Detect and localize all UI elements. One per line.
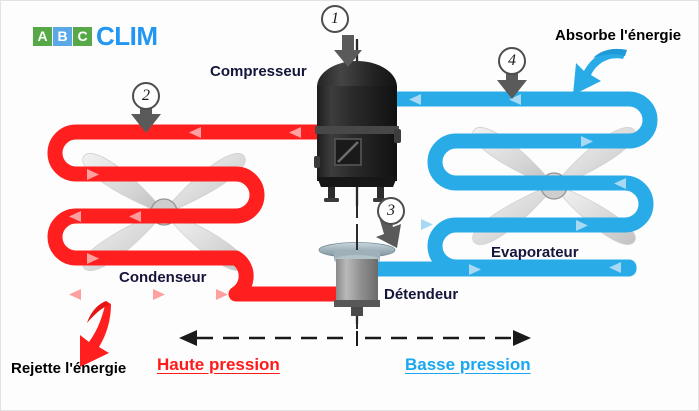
callout-badge-1[interactable]: 1 — [321, 5, 349, 33]
label-compresseur: Compresseur — [210, 64, 307, 79]
reject-energy-arrow-icon — [80, 301, 111, 367]
pressure-axis — [179, 330, 531, 346]
label-condenseur: Condenseur — [119, 270, 207, 285]
label-rejette-energie: Rejette l'énergie — [11, 361, 126, 376]
compressor-icon — [314, 39, 401, 206]
label-evaporateur: Evaporateur — [491, 245, 579, 260]
label-haute-pression: Haute pression — [157, 356, 280, 373]
label-basse-pression: Basse pression — [405, 356, 531, 373]
logo-wordmark: CLIM — [96, 23, 158, 49]
callout-badge-3[interactable]: 3 — [377, 197, 405, 225]
callout-badge-4[interactable]: 4 — [498, 47, 526, 75]
hvac-cycle-diagram: A B C CLIM Compresseur Condenseur Détend… — [0, 0, 699, 411]
label-absorbe-energie: Absorbe l'énergie — [555, 28, 681, 43]
label-detendeur: Détendeur — [384, 287, 458, 302]
logo-letter-b: B — [53, 27, 72, 46]
logo-letter-c: C — [73, 27, 92, 46]
logo-letter-a: A — [33, 27, 52, 46]
callout-badge-2[interactable]: 2 — [132, 82, 160, 110]
abcclim-logo: A B C CLIM — [33, 23, 158, 49]
absorb-energy-arrow-icon — [573, 49, 627, 95]
diagram-canvas — [1, 1, 699, 411]
